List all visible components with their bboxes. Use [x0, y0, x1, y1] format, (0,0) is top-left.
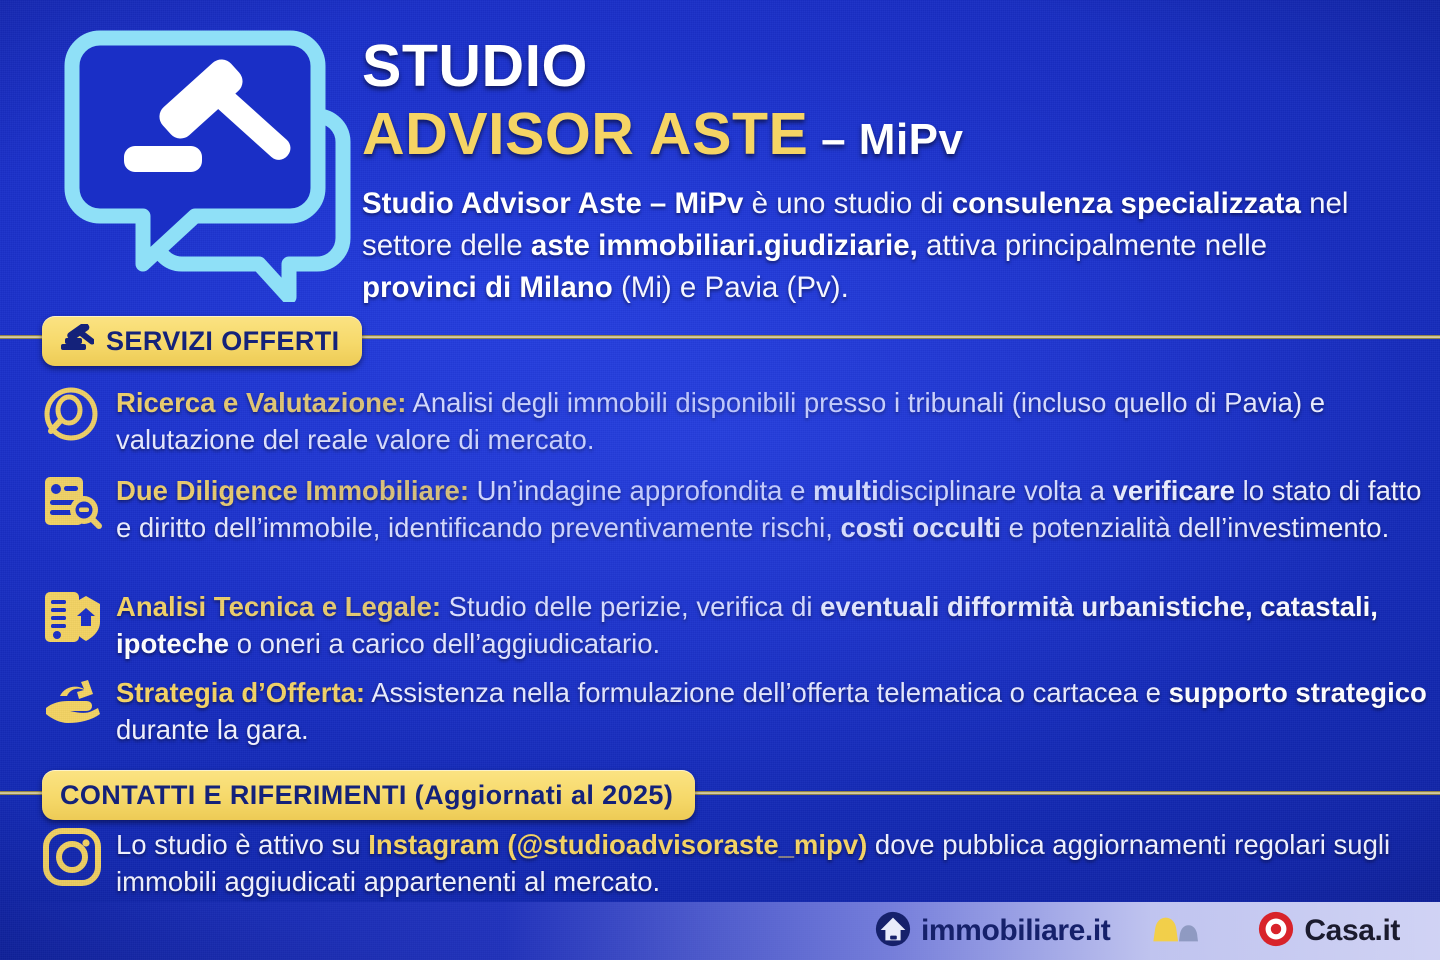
- service-item: Due Diligence Immobiliare: Un’indagine a…: [42, 472, 1437, 547]
- service-item-text: Ricerca e Valutazione: Analisi degli imm…: [116, 384, 1437, 459]
- brand-immobiliare: immobiliare.it: [874, 910, 1110, 953]
- seg: e potenzialità dell’investimento.: [1001, 512, 1389, 543]
- service-item: Analisi Tecnica e Legale: Studio delle p…: [42, 588, 1437, 663]
- service-item-head: Strategia d’Offerta:: [116, 677, 365, 708]
- seg: durante la gara.: [116, 714, 309, 745]
- intro-t5: (Mi) e Pavia (Pv).: [613, 271, 849, 304]
- brand-immobiliare-label: immobiliare.it: [921, 914, 1110, 948]
- intro-t4: nelle: [1205, 229, 1267, 262]
- section-pill-contacts: CONTATTI E RIFERIMENTI (Aggiornati al 20…: [42, 770, 695, 820]
- seg: Studio delle perizie, verifica di: [441, 591, 820, 622]
- intro-t3: attiva principalmente: [918, 229, 1197, 262]
- document-house-icon: [42, 590, 102, 648]
- magnifier-circle-icon: [42, 386, 102, 444]
- immobiliare-house-icon: [874, 910, 912, 953]
- intro-b1: Studio Advisor Aste – MiPv: [362, 187, 743, 220]
- seg: Lo studio è attivo su: [116, 829, 368, 860]
- seg: Un’indagine approfondita e: [469, 475, 813, 506]
- gavel-icon: [60, 324, 94, 359]
- brand-idealista: [1150, 910, 1217, 953]
- page-subtitle-suffix: – MiPv: [808, 115, 963, 164]
- seg: supporto strategico: [1169, 677, 1427, 708]
- intro-paragraph: Studio Advisor Aste – MiPv è uno studio …: [362, 183, 1362, 310]
- seg: verificare: [1113, 475, 1235, 506]
- intro-b4: provinci di Milano: [362, 271, 613, 304]
- intro-b3: aste immobiliari.giudiziarie,: [531, 229, 918, 262]
- contacts-label-bold: CONTATTI E RIFERIMENTI: [60, 780, 407, 810]
- gavel-speech-bubble-logo: [62, 24, 352, 302]
- brand-casa: Casa.it: [1257, 910, 1400, 953]
- page-subtitle-gold: ADVISOR ASTE: [362, 101, 808, 167]
- casa-target-icon: [1257, 910, 1295, 953]
- section-pill-services-label: SERVIZI OFFERTI: [106, 326, 340, 357]
- service-item-head: Due Diligence Immobiliare:: [116, 475, 469, 506]
- service-item: Strategia d’Offerta: Assistenza nella fo…: [42, 674, 1437, 749]
- brand-casa-label: Casa.it: [1304, 914, 1400, 948]
- header: STUDIO ADVISOR ASTE – MiPv Studio Adviso…: [0, 0, 1440, 310]
- seg: multi: [813, 475, 879, 506]
- service-item-text: Strategia d’Offerta: Assistenza nella fo…: [116, 674, 1437, 749]
- contact-item: Lo studio è attivo su Instagram (@studio…: [42, 826, 1437, 901]
- seg: Assistenza nella formulazione dell’offer…: [365, 677, 1169, 708]
- seg: o oneri a carico dell’aggiudicatario.: [229, 628, 660, 659]
- seg: disciplinare volta a: [879, 475, 1113, 506]
- document-search-icon: [42, 474, 102, 532]
- intro-t1: è uno studio di: [743, 187, 951, 220]
- instagram-icon[interactable]: [42, 828, 102, 886]
- service-item-head: Analisi Tecnica e Legale:: [116, 591, 441, 622]
- contact-item-text: Lo studio è attivo su Instagram (@studio…: [116, 826, 1437, 901]
- service-item-head: Ricerca e Valutazione:: [116, 387, 406, 418]
- contacts-label-rest: (Aggiornati al 2025): [407, 780, 673, 810]
- footer-brand-bar: immobiliare.it Casa.it: [0, 902, 1440, 960]
- service-item-text: Due Diligence Immobiliare: Un’indagine a…: [116, 472, 1437, 547]
- intro-b2: consulenza specializzata: [952, 187, 1301, 220]
- service-item: Ricerca e Valutazione: Analisi degli imm…: [42, 384, 1437, 459]
- seg: costi occulti: [841, 512, 1001, 543]
- page-subtitle: ADVISOR ASTE – MiPv: [362, 101, 1412, 167]
- idealista-houses-icon: [1150, 910, 1208, 953]
- page-title: STUDIO: [362, 36, 1412, 97]
- section-pill-contacts-label: CONTATTI E RIFERIMENTI (Aggiornati al 20…: [60, 780, 673, 811]
- title-block: STUDIO ADVISOR ASTE – MiPv Studio Adviso…: [362, 36, 1412, 309]
- instagram-handle[interactable]: Instagram (@studioadvisoraste_mipv): [368, 829, 867, 860]
- service-item-text: Analisi Tecnica e Legale: Studio delle p…: [116, 588, 1437, 663]
- section-pill-services: SERVIZI OFFERTI: [42, 316, 362, 366]
- hand-arrow-icon: [42, 676, 102, 734]
